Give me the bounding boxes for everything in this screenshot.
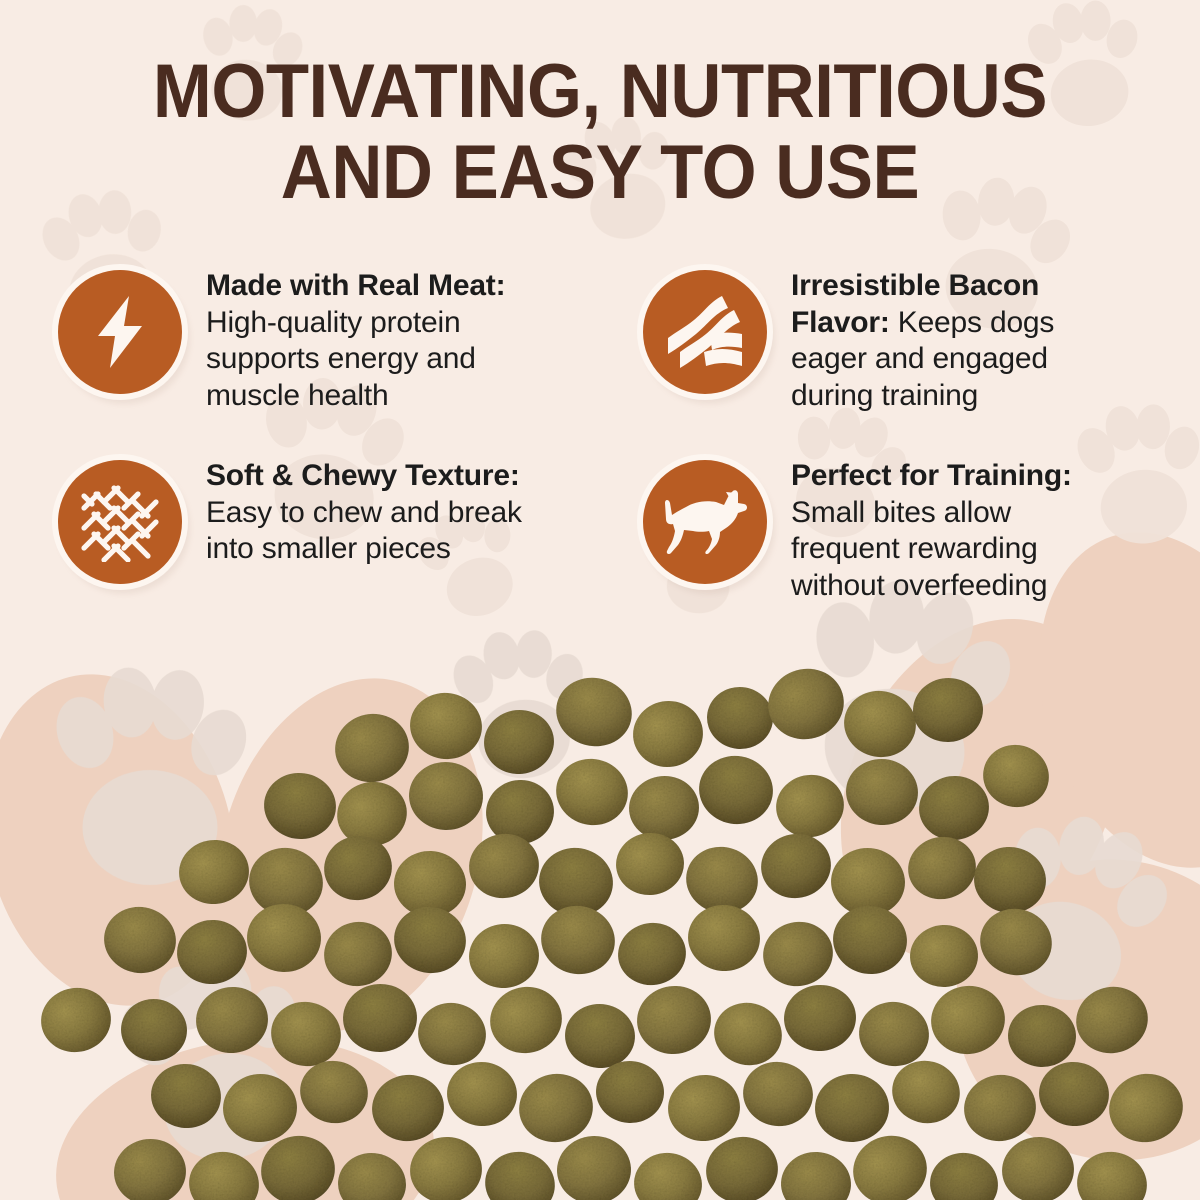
feature-body: Small bites allow frequent rewarding wit… (791, 496, 1047, 602)
feature-body: Easy to chew and break into smaller piec… (206, 496, 522, 566)
feature-title: Perfect for Training: (791, 459, 1072, 492)
feature-item-irresistible-bacon-flavor: Irresistible Bacon Flavor: Keeps dogs ea… (637, 262, 1200, 414)
page-title: MOTIVATING, NUTRITIOUS AND EASY TO USE (0, 54, 1200, 210)
feature-item-perfect-for-training: Perfect for Training: Small bites allow … (637, 452, 1200, 604)
woven-texture-icon (58, 460, 182, 584)
feature-body: High-quality protein supports energy and… (206, 306, 476, 412)
feature-icon-badge (52, 454, 188, 590)
headline-line-1: MOTIVATING, NUTRITIOUS (42, 54, 1158, 129)
feature-text: Made with Real Meat: High-quality protei… (206, 262, 566, 414)
feature-icon-badge (637, 264, 773, 400)
lightning-bolt-icon (58, 270, 182, 394)
feature-item-soft-chewy-texture: Soft & Chewy Texture: Easy to chew and b… (52, 452, 637, 604)
headline-line-2: AND EASY TO USE (42, 135, 1158, 210)
dog-food-kibble-pile (0, 600, 1200, 1200)
feature-title: Made with Real Meat: (206, 269, 505, 302)
feature-text: Soft & Chewy Texture: Easy to chew and b… (206, 452, 566, 568)
feature-icon-badge (637, 454, 773, 590)
feature-item-made-with-real-meat: Made with Real Meat: High-quality protei… (52, 262, 637, 414)
feature-icon-badge (52, 264, 188, 400)
feature-text: Perfect for Training: Small bites allow … (791, 452, 1121, 604)
feature-title: Soft & Chewy Texture: (206, 459, 520, 492)
feature-text: Irresistible Bacon Flavor: Keeps dogs ea… (791, 262, 1121, 414)
product-feature-poster: MOTIVATING, NUTRITIOUS AND EASY TO USE M… (0, 0, 1200, 1200)
running-dog-icon (643, 460, 767, 584)
feature-list: Made with Real Meat: High-quality protei… (0, 262, 1200, 604)
bacon-strips-icon (643, 270, 767, 394)
